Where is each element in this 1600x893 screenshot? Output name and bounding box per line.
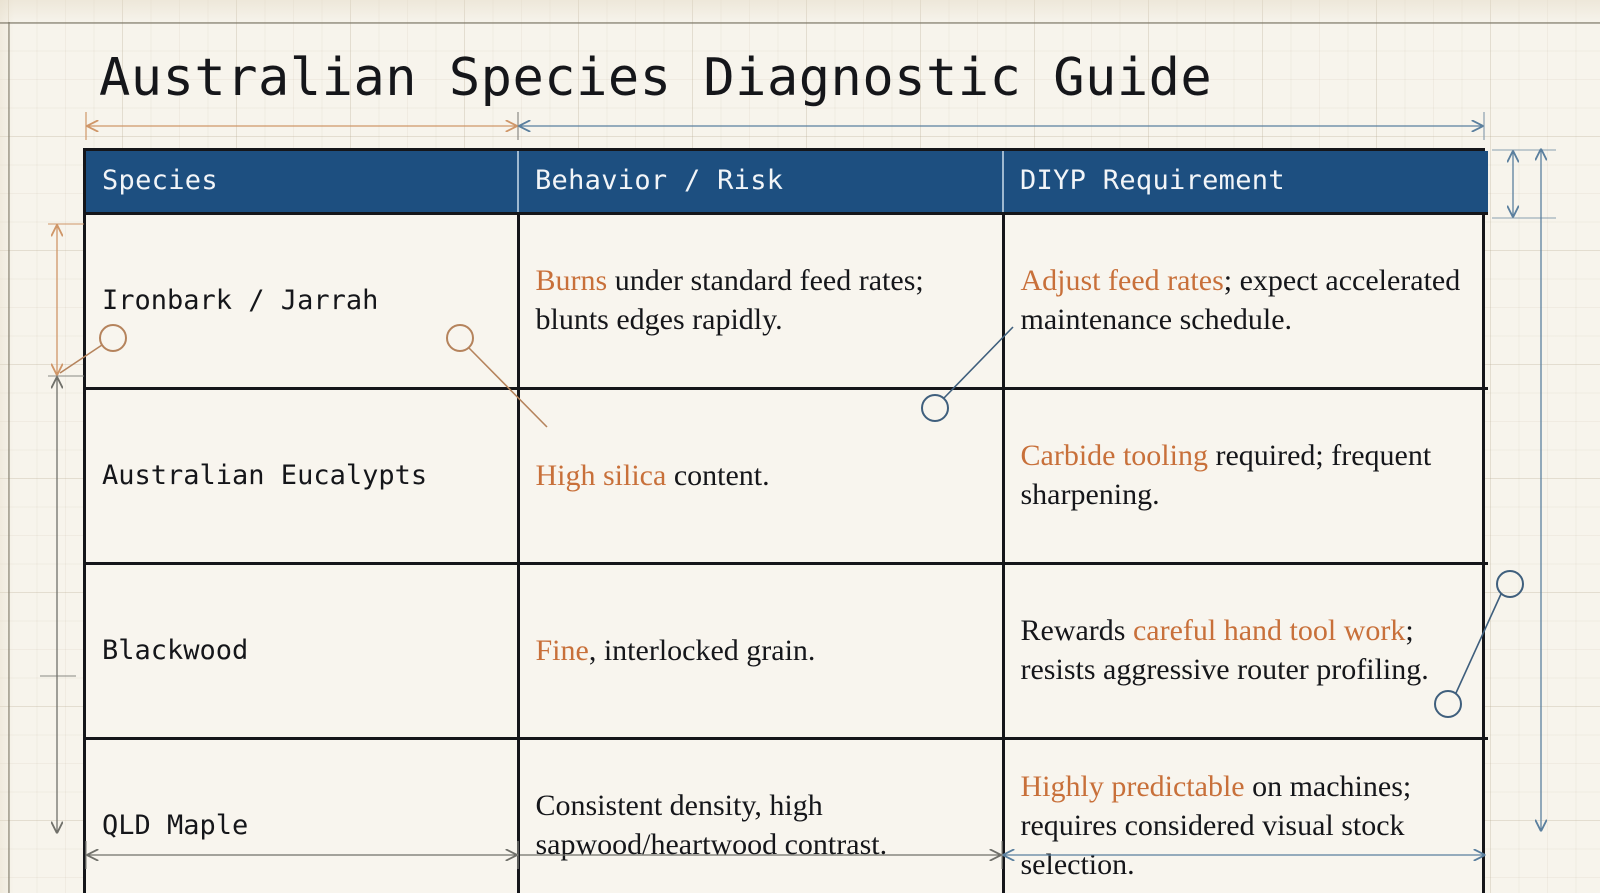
cell-behavior: Fine, interlocked grain.	[518, 564, 1003, 739]
column-header-diyp-requirement: DIYP Requirement	[1003, 151, 1488, 214]
dimension-top-right-width	[520, 112, 1484, 140]
cell-requirement: Rewards careful hand tool work; resists …	[1003, 564, 1488, 739]
column-header-species: Species	[86, 151, 518, 214]
cell-requirement: Adjust feed rates; expect accelerated ma…	[1003, 214, 1488, 389]
dimension-left-header-height	[48, 224, 84, 376]
cell-requirement: Carbide tooling required; frequent sharp…	[1003, 389, 1488, 564]
dimension-top-species-width	[86, 112, 518, 140]
highlighted-term: Highly predictable	[1021, 770, 1245, 803]
dimension-left-body-height	[40, 378, 76, 832]
species-guide-table: Species Behavior / Risk DIYP Requirement…	[86, 151, 1488, 893]
dimension-right-header-height	[1492, 150, 1556, 218]
page-title: Australian Species Diagnostic Guide	[99, 48, 1212, 108]
highlighted-term: Carbide tooling	[1021, 439, 1208, 472]
cell-species: Blackwood	[86, 564, 518, 739]
highlighted-term: Burns	[536, 264, 608, 297]
diagnostic-guide-page: Australian Species Diagnostic Guide Spec…	[0, 0, 1600, 893]
table-header-row: Species Behavior / Risk DIYP Requirement	[86, 151, 1488, 214]
species-guide-table-container: Species Behavior / Risk DIYP Requirement…	[83, 148, 1485, 893]
table-row: BlackwoodFine, interlocked grain.Rewards…	[86, 564, 1488, 739]
cell-species: Australian Eucalypts	[86, 389, 518, 564]
column-header-behavior-risk: Behavior / Risk	[518, 151, 1003, 214]
cell-requirement: Highly predictable on machines; requires…	[1003, 739, 1488, 893]
cell-behavior: High silica content.	[518, 389, 1003, 564]
highlighted-term: Fine	[536, 634, 589, 667]
highlighted-term: High silica	[536, 459, 667, 492]
highlighted-term: careful hand tool work	[1133, 614, 1405, 647]
cell-behavior: Consistent density, high sapwood/heartwo…	[518, 739, 1003, 893]
table-row: Australian EucalyptsHigh silica content.…	[86, 389, 1488, 564]
body-text: Consistent density, high sapwood/heartwo…	[536, 789, 888, 861]
body-text: , interlocked grain.	[589, 634, 816, 667]
body-text: Rewards	[1021, 614, 1133, 647]
page-frame-left-rule	[8, 22, 10, 893]
table-row: Ironbark / JarrahBurns under standard fe…	[86, 214, 1488, 389]
highlighted-term: Adjust feed rates	[1021, 264, 1224, 297]
cell-species: QLD Maple	[86, 739, 518, 893]
page-frame-top-rule	[0, 22, 1600, 24]
table-row: QLD MapleConsistent density, high sapwoo…	[86, 739, 1488, 893]
cell-behavior: Burns under standard feed rates; blunts …	[518, 214, 1003, 389]
table-header: Species Behavior / Risk DIYP Requirement	[86, 151, 1488, 214]
body-text: content.	[666, 459, 769, 492]
cell-species: Ironbark / Jarrah	[86, 214, 518, 389]
table-body: Ironbark / JarrahBurns under standard fe…	[86, 214, 1488, 893]
